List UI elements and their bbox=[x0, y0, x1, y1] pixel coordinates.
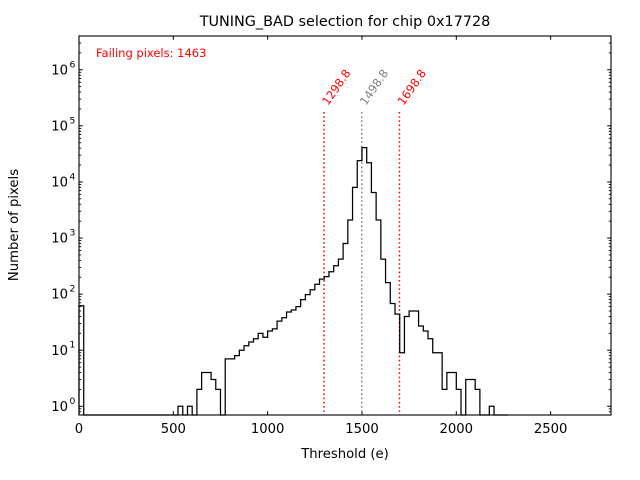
matplotlib-figure: TUNING_BAD selection for chip 0x17728 10… bbox=[0, 0, 640, 480]
x-tick-label: 1500 bbox=[345, 422, 379, 437]
svg-text:10: 10 bbox=[51, 288, 68, 303]
x-tick-label: 2000 bbox=[440, 422, 474, 437]
svg-text:10: 10 bbox=[51, 176, 68, 191]
x-tick-label: 1000 bbox=[251, 422, 285, 437]
x-axis-label: Threshold (e) bbox=[300, 447, 389, 462]
svg-text:10: 10 bbox=[51, 232, 68, 247]
x-tick-label: 0 bbox=[75, 422, 83, 437]
svg-text:5: 5 bbox=[70, 115, 76, 126]
x-tick-label: 2500 bbox=[534, 422, 568, 437]
svg-text:1: 1 bbox=[70, 340, 76, 351]
y-axis-label: Number of pixels bbox=[7, 169, 22, 281]
plot-area: 100101102103104105106 050010001500200025… bbox=[51, 36, 611, 437]
svg-text:4: 4 bbox=[70, 171, 76, 182]
chart-title: TUNING_BAD selection for chip 0x17728 bbox=[199, 14, 491, 30]
svg-text:10: 10 bbox=[51, 63, 68, 78]
x-tick-label: 500 bbox=[161, 422, 186, 437]
svg-text:2: 2 bbox=[70, 284, 76, 295]
axes-background bbox=[79, 36, 611, 415]
svg-text:10: 10 bbox=[51, 119, 68, 134]
svg-text:6: 6 bbox=[70, 59, 76, 70]
failing-pixels-annotation: Failing pixels: 1463 bbox=[96, 46, 206, 60]
svg-text:0: 0 bbox=[70, 396, 76, 407]
histogram-chart: TUNING_BAD selection for chip 0x17728 10… bbox=[0, 0, 640, 480]
annotations: Failing pixels: 1463 bbox=[96, 46, 206, 60]
svg-text:10: 10 bbox=[51, 400, 68, 415]
svg-text:10: 10 bbox=[51, 344, 68, 359]
svg-text:3: 3 bbox=[70, 228, 76, 239]
